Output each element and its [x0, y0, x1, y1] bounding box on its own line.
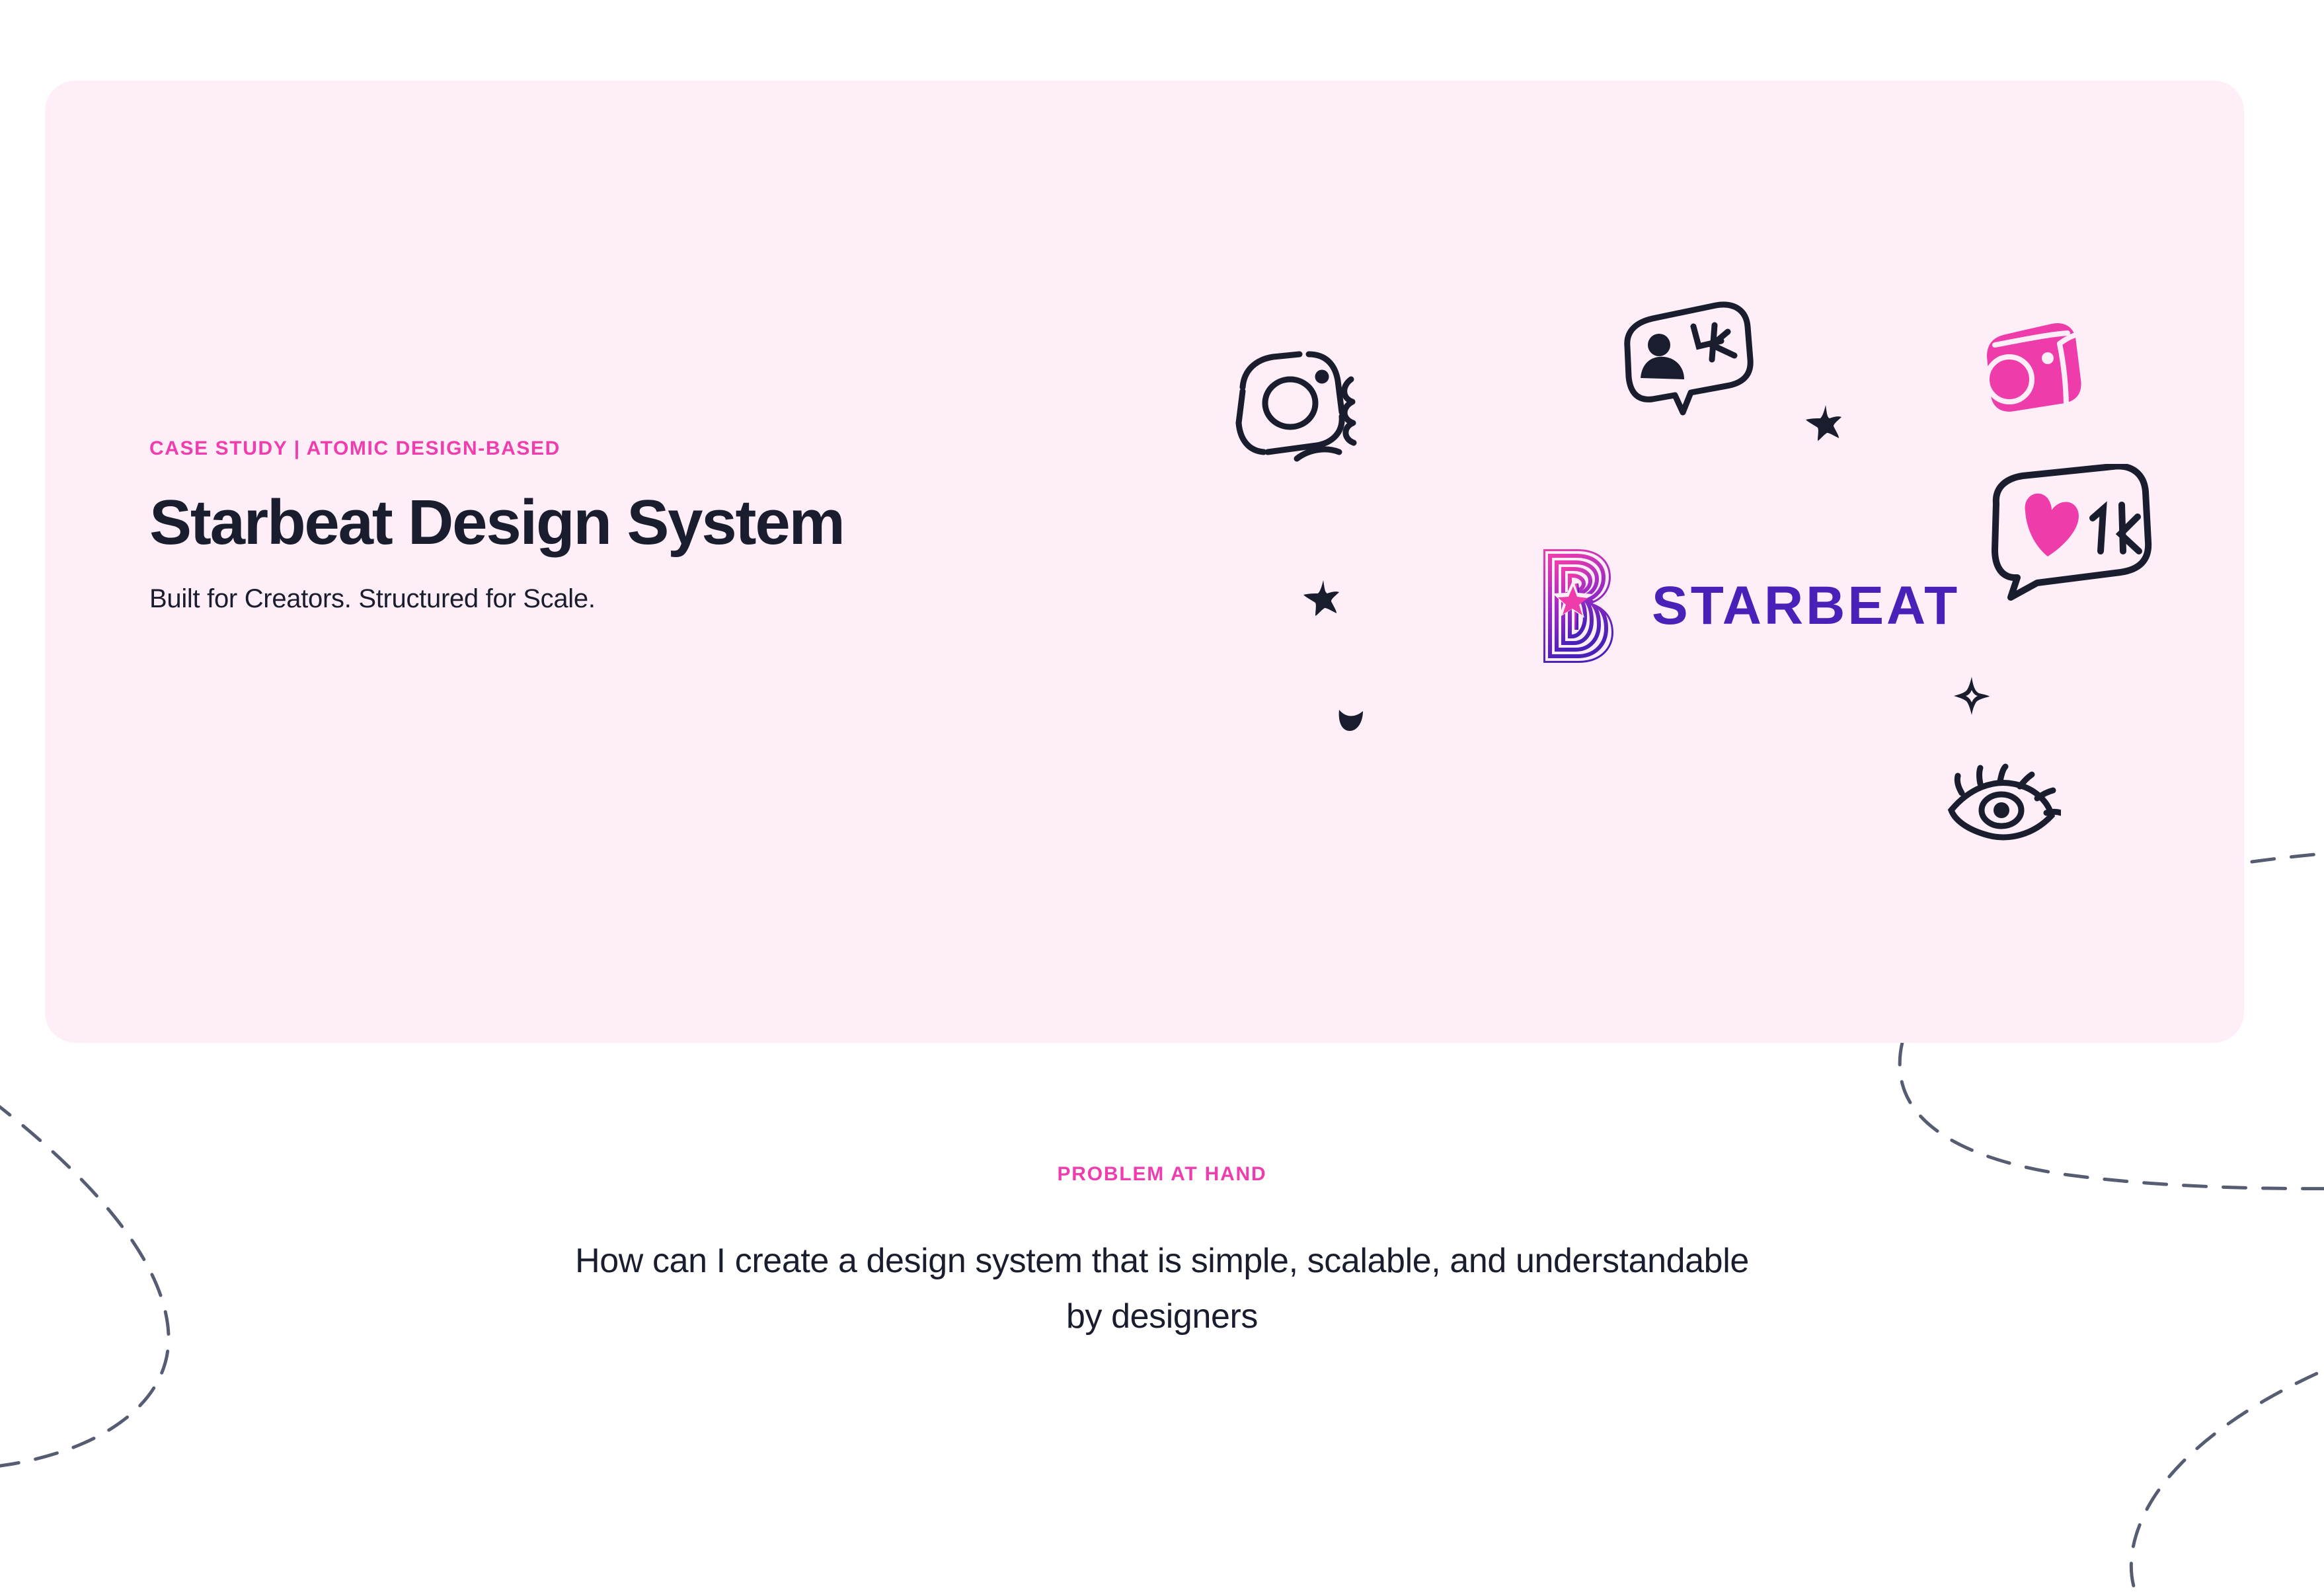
smile-swoosh-icon	[1334, 702, 1370, 735]
starbeat-b-mark	[1535, 547, 1620, 665]
page-title: Starbeat Design System	[149, 489, 1181, 556]
pink-camera-icon	[1975, 319, 2087, 424]
hero-card: CASE STUDY | ATOMIC DESIGN-BASED Starbea…	[45, 81, 2244, 1043]
problem-line-2: by designers	[1066, 1297, 1258, 1336]
instagram-camera-icon	[1221, 338, 1367, 471]
star-icon-top	[1803, 401, 1845, 443]
hero-eyebrow: CASE STUDY | ATOMIC DESIGN-BASED	[149, 437, 1181, 460]
hero-copy-block: CASE STUDY | ATOMIC DESIGN-BASED Starbea…	[149, 437, 1181, 614]
problem-label: PROBLEM AT HAND	[0, 1163, 2324, 1186]
likes-bubble-icon	[1982, 464, 2160, 603]
star-icon-left	[1301, 576, 1343, 619]
hero-illustration-cluster: STARBEAT	[1221, 299, 2200, 893]
problem-line-1: How can I create a design system that is…	[575, 1242, 1749, 1280]
starbeat-logo-lockup: STARBEAT	[1535, 547, 1960, 665]
sparkle-icon	[1953, 675, 1991, 716]
hero-subtitle: Built for Creators. Structured for Scale…	[149, 584, 1181, 614]
eye-icon	[1942, 761, 2061, 847]
problem-section: PROBLEM AT HAND How can I create a desig…	[0, 1163, 2324, 1344]
problem-statement: How can I create a design system that is…	[402, 1233, 1922, 1344]
starbeat-wordmark: STARBEAT	[1652, 579, 1960, 633]
followers-bubble-icon	[1611, 299, 1763, 418]
